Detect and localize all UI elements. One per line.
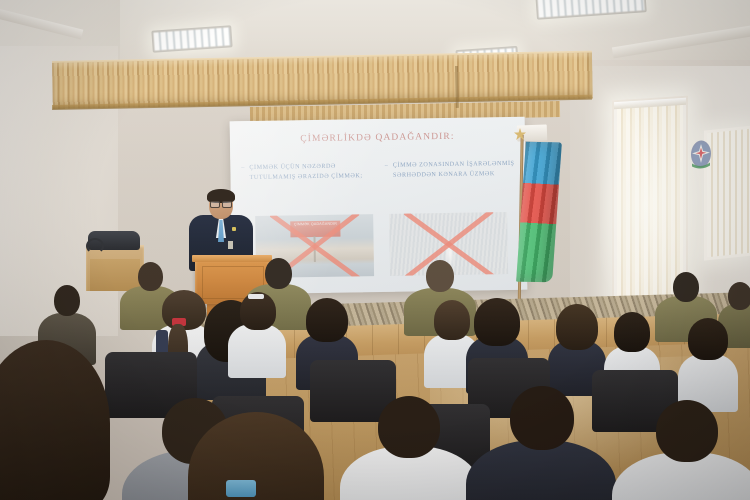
floor-light-reflection	[430, 355, 730, 485]
beach-warning-sign-photo: ÇİMMƏK QADAĞANDIR	[255, 214, 374, 278]
lapel-pin-icon	[232, 227, 236, 231]
podium-front-panel	[202, 266, 264, 299]
window-right	[612, 96, 688, 320]
slide-bullets: ÇİMMƏK ÜÇÜN NƏZƏRDƏ TUTULMAMIŞ ƏRAZİDƏ Ç…	[240, 159, 517, 183]
assembly-hall-scene: ÇİMƏRLİKDƏ QADAĞANDIR: ÇİMMƏK ÜÇÜN NƏZƏR…	[0, 0, 750, 500]
podium-top	[192, 255, 272, 262]
prohibition-cross-1-icon	[255, 214, 374, 278]
podium-base	[207, 303, 255, 327]
presenter-badge	[228, 241, 233, 249]
prohibition-cross-2-icon	[389, 212, 508, 276]
slide-bullet-2: ÇİMMƏ ZONASINDAN İŞARƏLƏNMİŞ SƏRHƏDDƏN K…	[384, 159, 518, 180]
projection-screen: ÇİMƏRLİKDƏ QADAĞANDIR: ÇİMMƏK ÜÇÜN NƏZƏR…	[230, 117, 528, 295]
glasses-icon	[210, 201, 232, 206]
open-sea-photo	[389, 212, 508, 276]
bag-strap	[86, 238, 104, 254]
vertical-blinds-icon	[617, 101, 683, 314]
audience-front-girl-left	[0, 340, 120, 500]
slide-photos: ÇİMMƏK QADAĞANDIR	[255, 212, 513, 278]
slide-title: ÇİMƏRLİKDƏ QADAĞANDIR:	[230, 131, 525, 146]
slide-bullet-1: ÇİMMƏK ÜÇÜN NƏZƏRDƏ TUTULMAMIŞ ƏRAZİDƏ Ç…	[240, 161, 374, 182]
azerbaijan-state-emblem-icon	[688, 137, 714, 170]
